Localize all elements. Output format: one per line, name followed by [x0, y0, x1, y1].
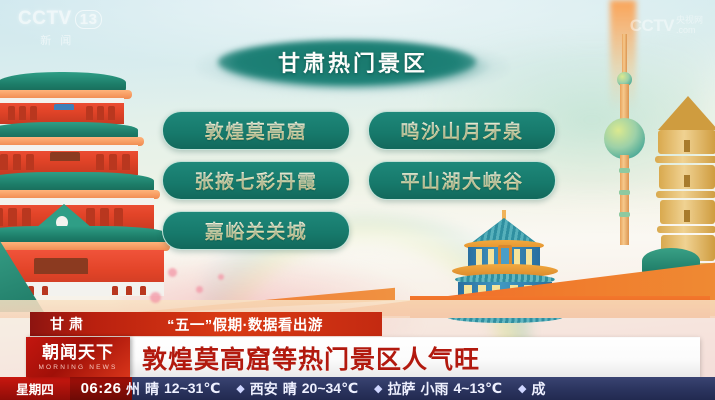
weather-condition: 小雨 [421, 379, 449, 399]
weather-condition: 晴 [145, 379, 159, 399]
program-name-cn: 朝闻天下 [42, 344, 114, 361]
bullet-icon: ◆ [374, 382, 382, 395]
weather-item: ◆西安晴20~34℃ [236, 379, 358, 399]
weather-temperature: 4~13℃ [454, 380, 503, 397]
weather-condition: 晴 [283, 379, 297, 399]
subtitle-text: “五一”假期·数据看出游 [108, 314, 382, 335]
weather-item: ◆拉萨小雨4~13℃ [374, 379, 502, 399]
weather-item: 州晴12~31℃ [126, 379, 220, 399]
weather-city: 州 [126, 379, 140, 399]
scenic-spot-pill[interactable]: 张掖七彩丹霞 [162, 161, 350, 200]
lower-third-subtitle-band: 甘肃 “五一”假期·数据看出游 [30, 312, 382, 336]
pavilion-illustration [0, 60, 160, 310]
scenic-spot-label: 张掖七彩丹霞 [194, 167, 317, 194]
weather-temperature: 20~34℃ [302, 380, 358, 397]
weather-temperature: 12~31℃ [164, 380, 220, 397]
watermark-cctv-text: CCTV [630, 16, 674, 36]
weather-list: 州晴12~31℃◆西安晴20~34℃◆拉萨小雨4~13℃◆成 [126, 379, 715, 399]
channel-number: 13 [75, 10, 103, 29]
scenic-spot-label: 敦煌莫高窟 [205, 117, 308, 144]
ticker-weekday: 星期四 [0, 377, 70, 400]
bullet-icon: ◆ [236, 382, 244, 395]
province-label: 甘肃 [30, 314, 108, 334]
ticker-time: 06:26 [70, 377, 132, 400]
headline-text: 敦煌莫高窟等热门景区人气旺 [142, 340, 480, 376]
blossom-dot [150, 292, 161, 303]
cctv-watermark: CCTV 央视网 .com [630, 16, 703, 36]
channel-sub-label: 新闻 [18, 32, 102, 48]
broadcast-screenshot: CCTV13 新闻 CCTV 央视网 .com 甘肃热门景区 敦煌莫高窟鸣沙山月… [0, 0, 715, 400]
program-name-en: MORNING NEWS [38, 364, 117, 371]
blossom-dot [168, 268, 177, 277]
blossom-dot [196, 286, 203, 293]
watermark-cn-text: 央视网 [676, 15, 703, 25]
scenic-spot-label: 鸣沙山月牙泉 [400, 117, 523, 144]
bullet-icon: ◆ [518, 382, 526, 395]
weather-city: 拉萨 [388, 379, 416, 399]
weather-city: 西安 [250, 379, 278, 399]
weather-city: 成 [531, 379, 545, 399]
weather-item: ◆成 [518, 379, 550, 399]
lower-third-headline-band: 敦煌莫高窟等热门景区人气旺 [30, 337, 700, 378]
scenic-spot-label: 平山湖大峡谷 [400, 167, 523, 194]
watermark-domain-text: .com [676, 25, 696, 35]
scenic-spot-pill[interactable]: 平山湖大峡谷 [368, 161, 556, 200]
scenic-spot-pill[interactable]: 敦煌莫高窟 [162, 111, 350, 150]
graphic-title: 甘肃热门景区 [197, 46, 509, 78]
blossom-dot [218, 274, 224, 280]
channel-logo: CCTV13 新闻 [18, 8, 102, 48]
scenic-spot-pill[interactable]: 鸣沙山月牙泉 [368, 111, 556, 150]
cctv-logo-text: CCTV [18, 8, 72, 29]
news-ticker: 星期四 06:26 州晴12~31℃◆西安晴20~34℃◆拉萨小雨4~13℃◆成 [0, 377, 715, 400]
scenic-spot-pill[interactable]: 嘉峪关关城 [162, 211, 350, 250]
scenic-spot-label: 嘉峪关关城 [205, 217, 308, 244]
program-logo: 朝闻天下 MORNING NEWS [26, 337, 130, 377]
